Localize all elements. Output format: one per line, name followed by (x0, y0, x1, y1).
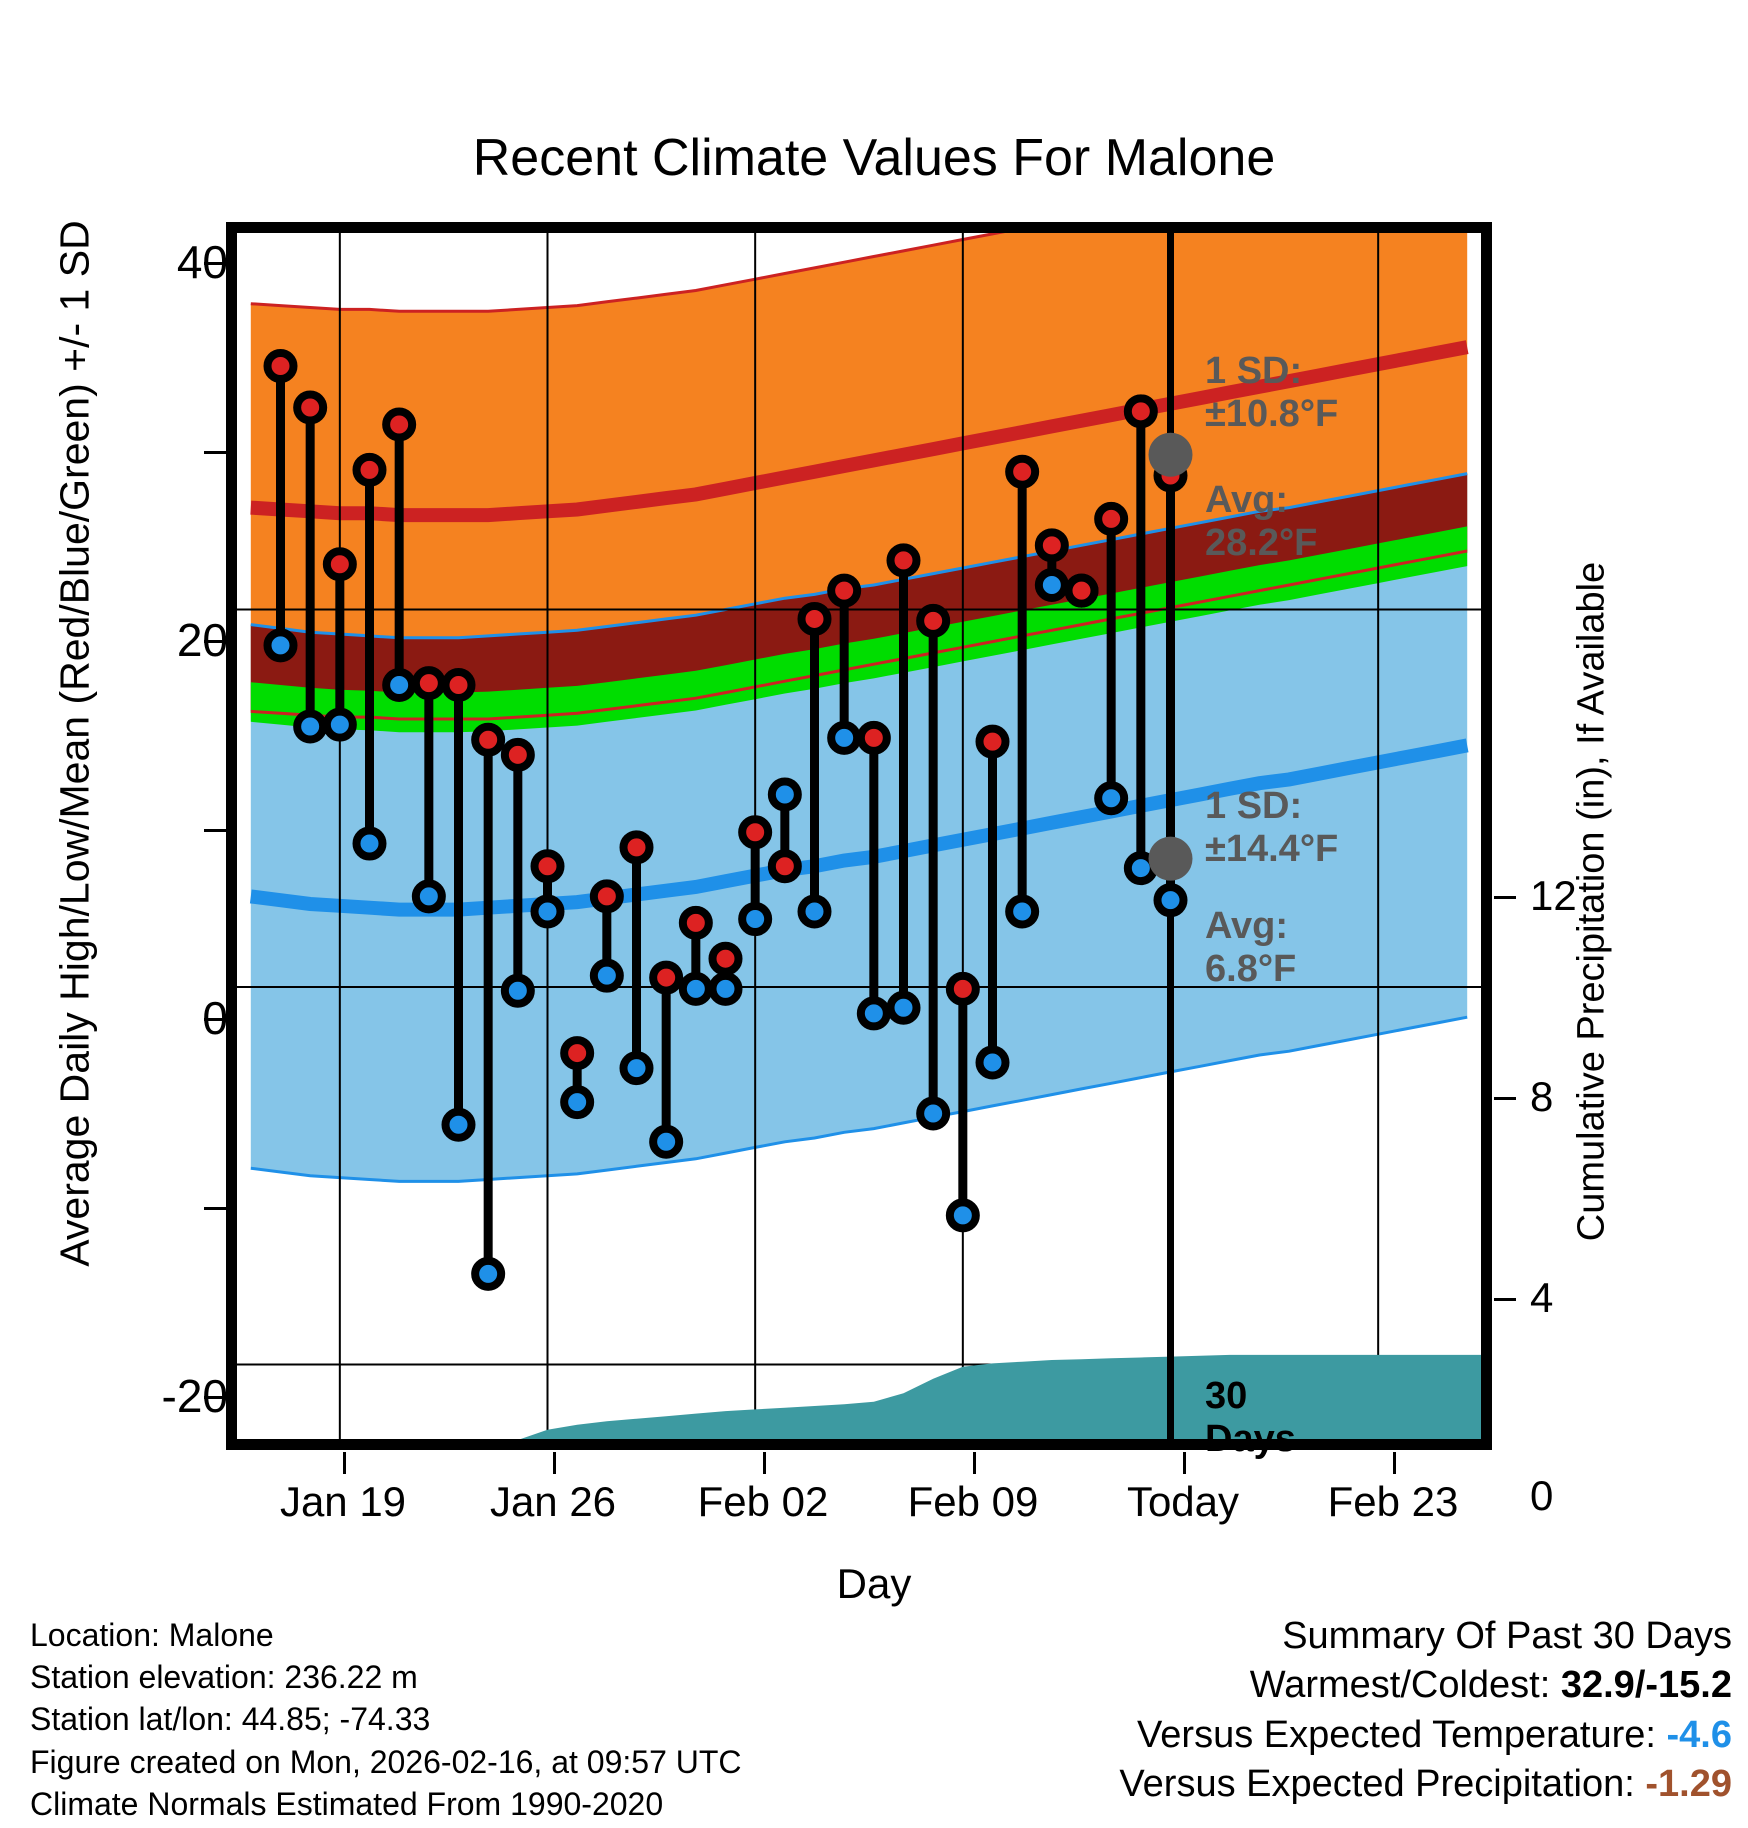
summary-block: Summary Of Past 30 Days Warmest/Coldest:… (1119, 1612, 1732, 1810)
y-tickmark-left-30 (204, 451, 226, 454)
y-tick-right-4: 4 (1530, 1274, 1730, 1322)
info-normals: Climate Normals Estimated From 1990-2020 (30, 1783, 742, 1825)
y-tick-left-0: 0 (0, 991, 228, 1045)
summary-warmest-coldest: Warmest/Coldest: 32.9/-15.2 (1119, 1661, 1732, 1710)
y-tick-right-12: 12 (1530, 872, 1730, 920)
x-tickmark-feb-09 (973, 1452, 976, 1474)
page-title: Recent Climate Values For Malone (0, 128, 1748, 188)
x-tickmark-feb-23 (1393, 1452, 1396, 1474)
y-tick-left-20: 20 (0, 613, 228, 667)
x-tickmark-jan-26 (553, 1452, 556, 1474)
y-tickmark-right-8 (1494, 1097, 1516, 1100)
y-tick-right-8: 8 (1530, 1073, 1730, 1121)
vs-precip-value: -1.29 (1645, 1763, 1732, 1805)
x-axis-label: Day (0, 1560, 1748, 1608)
info-latlon: Station lat/lon: 44.85; -74.33 (30, 1698, 742, 1740)
y-tick-left-40: 40 (0, 235, 228, 289)
y-tick-left-minus20: -20 (0, 1369, 228, 1423)
vs-temp-label: Versus Expected Temperature: (1137, 1714, 1666, 1756)
info-elevation: Station elevation: 236.22 m (30, 1656, 742, 1698)
high-sd-annotation: 1 SD: ±10.8°F (1205, 350, 1338, 435)
y-tickmark-left-20 (204, 640, 226, 643)
days-annotation: 30 Days (1205, 1375, 1296, 1460)
y-tickmark-right-4 (1494, 1298, 1516, 1301)
low-avg-annotation: Avg: 6.8°F (1205, 905, 1296, 990)
y-tickmark-left-minus20 (204, 1396, 226, 1399)
station-info-block: Location: Malone Station elevation: 236.… (30, 1614, 742, 1825)
y-tickmark-left-40 (204, 262, 226, 265)
low-sd-annotation: 1 SD: ±14.4°F (1205, 785, 1338, 870)
summary-vs-precip: Versus Expected Precipitation: -1.29 (1119, 1760, 1732, 1809)
x-tickmark-feb-02 (763, 1452, 766, 1474)
x-tickmark-jan-19 (343, 1452, 346, 1474)
high-avg-annotation: Avg: 28.2°F (1205, 479, 1317, 564)
y-tickmark-left-10 (204, 829, 226, 832)
x-tickmark-today (1183, 1452, 1186, 1474)
info-created: Figure created on Mon, 2026-02-16, at 09… (30, 1741, 742, 1783)
summary-heading: Summary Of Past 30 Days (1119, 1612, 1732, 1661)
y-axis-label-left: Average Daily High/Low/Mean (Red/Blue/Gr… (52, 124, 99, 1364)
y-tickmark-right-12 (1494, 896, 1516, 899)
y-tick-right-0: 0 (1530, 1472, 1730, 1520)
warmest-coldest-value: 32.9/-15.2 (1561, 1664, 1732, 1706)
x-tick-feb-23: Feb 23 (1263, 1478, 1523, 1526)
vs-precip-label: Versus Expected Precipitation: (1119, 1763, 1645, 1805)
y-tickmark-left-minus10 (204, 1207, 226, 1210)
vs-temp-value: -4.6 (1667, 1714, 1732, 1756)
summary-vs-temp: Versus Expected Temperature: -4.6 (1119, 1711, 1732, 1760)
info-location: Location: Malone (30, 1614, 742, 1656)
y-tickmark-left-0 (204, 1018, 226, 1021)
warmest-coldest-label: Warmest/Coldest: (1250, 1664, 1561, 1706)
